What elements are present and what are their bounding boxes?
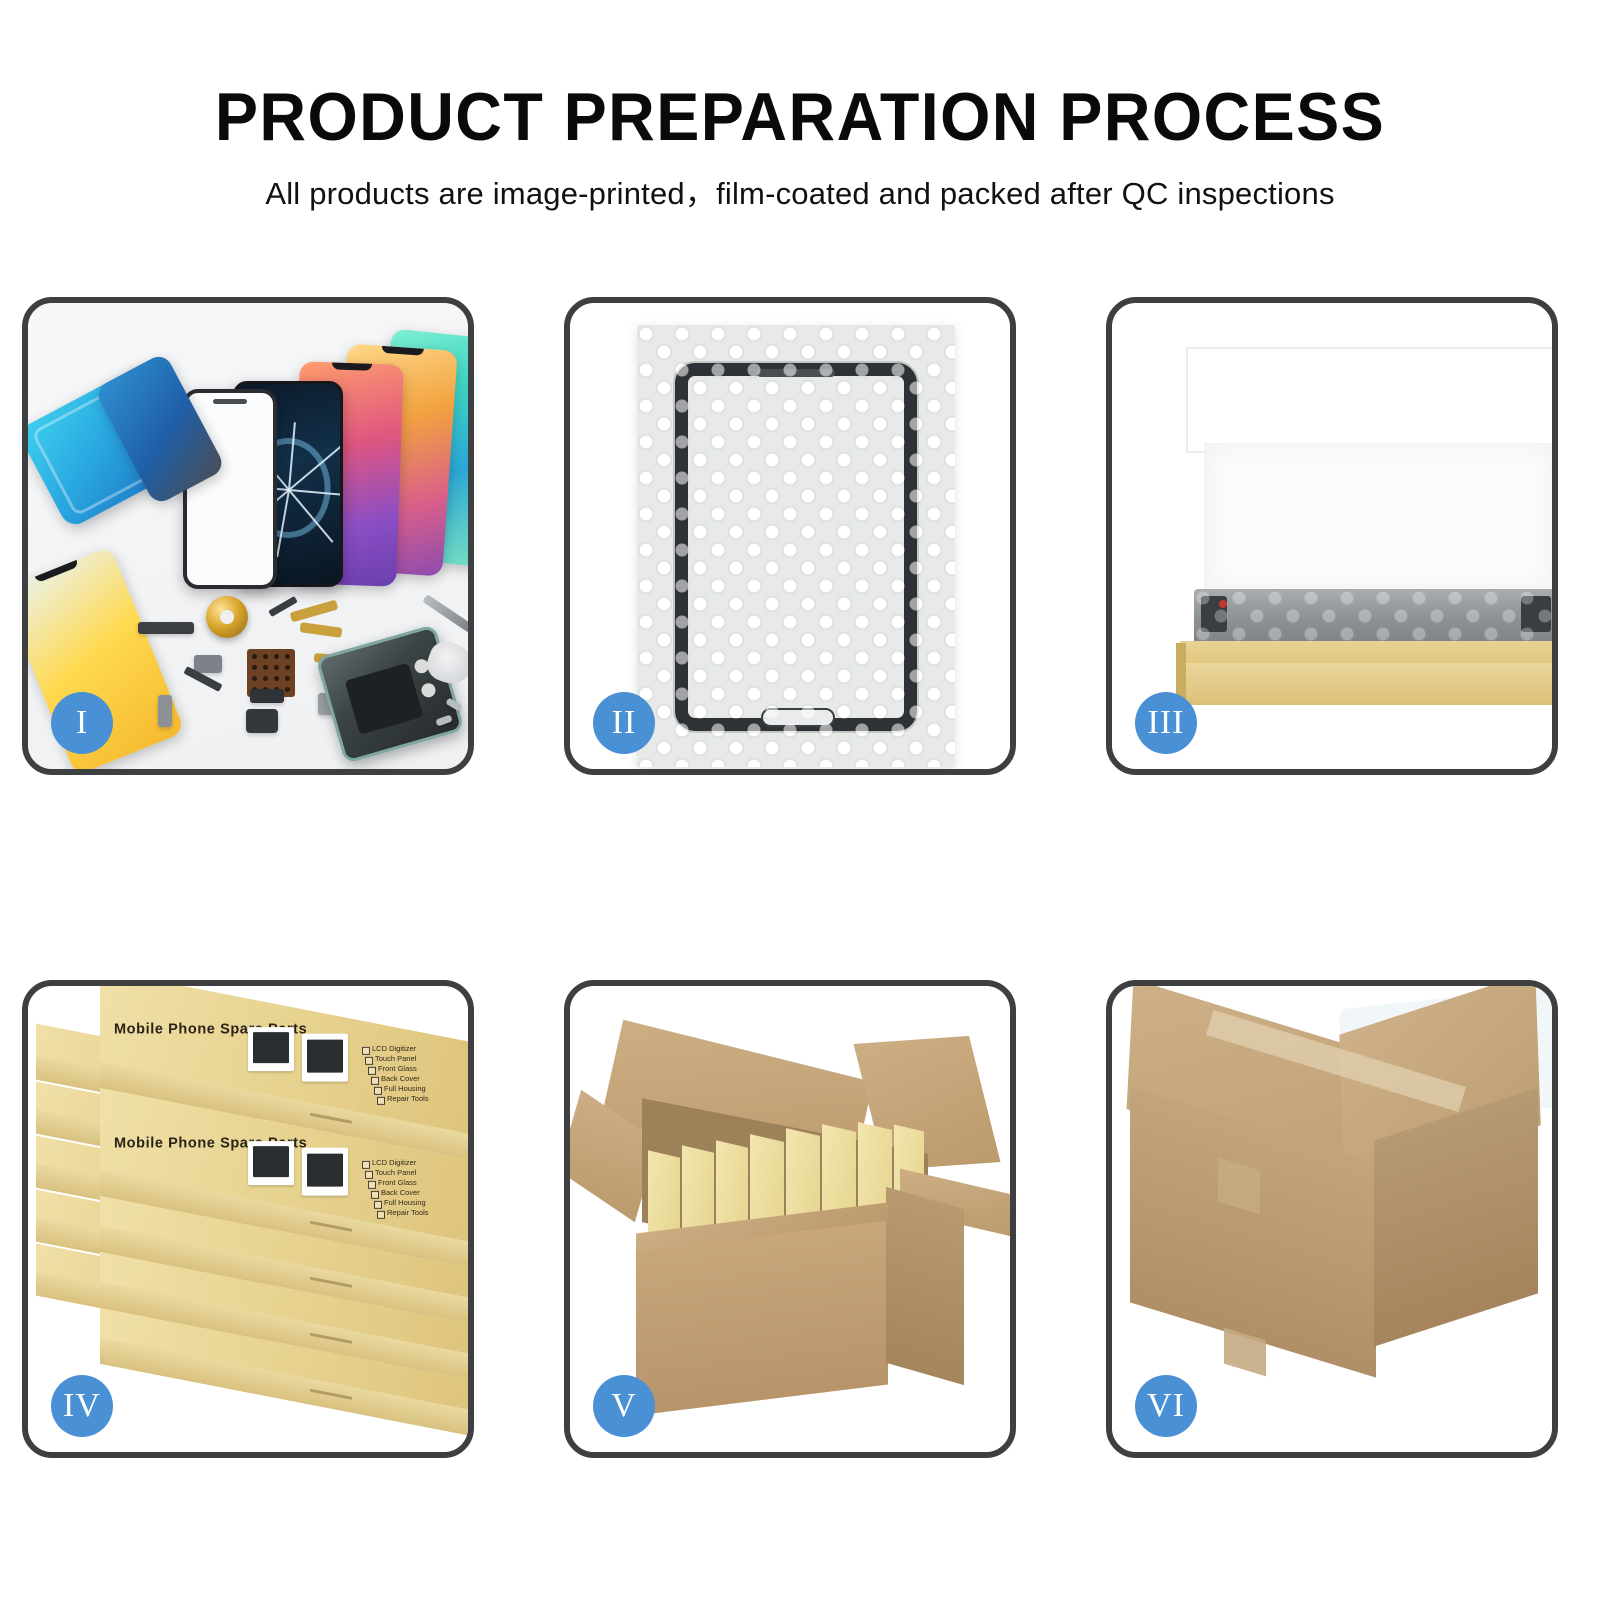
- box-edge-notch: [310, 1221, 352, 1232]
- gold-box-checklist-2: LCD Digitizer Touch Panel Front Glass Ba…: [362, 1159, 466, 1223]
- loudspeaker-part: [250, 689, 284, 703]
- step-card-3[interactable]: III: [1106, 297, 1558, 775]
- process-grid: I II: [0, 0, 1600, 1600]
- window-screen: [253, 1032, 289, 1063]
- gold-box-window-2: [302, 1148, 348, 1196]
- step-card-6[interactable]: VI: [1106, 980, 1558, 1458]
- earpiece-slot: [213, 399, 247, 404]
- gold-box-window-1: [248, 1027, 294, 1071]
- antenna-connector-part: [138, 622, 194, 634]
- checkbox: [368, 1181, 376, 1189]
- phone-notch: [382, 346, 424, 356]
- retail-box-in-carton: [822, 1124, 856, 1220]
- vibration-motor-part: [246, 709, 278, 733]
- checklist-item: Touch Panel: [375, 1168, 416, 1177]
- checklist-item: Repair Tools: [387, 1094, 429, 1103]
- mailer-lid-flap: [1186, 347, 1552, 453]
- box-edge-notch: [310, 1277, 352, 1288]
- earpiece-slot: [757, 369, 835, 377]
- checkbox: [362, 1047, 370, 1055]
- checkbox: [365, 1171, 373, 1179]
- checklist-item: Front Glass: [378, 1178, 417, 1187]
- wrapped-screen-panel: [675, 363, 917, 731]
- checkbox: [377, 1097, 385, 1105]
- gold-box-checklist-1: LCD Digitizer Touch Panel Front Glass Ba…: [362, 1045, 466, 1109]
- step-badge-1: I: [51, 692, 113, 754]
- checklist-item: Back Cover: [381, 1188, 420, 1197]
- checklist-item: Touch Panel: [375, 1054, 416, 1063]
- checklist-item: Front Glass: [378, 1064, 417, 1073]
- checkbox: [365, 1057, 373, 1065]
- box-edge-notch: [310, 1113, 352, 1124]
- checklist-item: Repair Tools: [387, 1208, 429, 1217]
- mailer-inner-foam: [1204, 443, 1552, 591]
- checklist-item: Full Housing: [384, 1198, 426, 1207]
- checkbox: [371, 1191, 379, 1199]
- bubble-wrap-sheet: [637, 325, 955, 767]
- window-screen: [253, 1146, 289, 1177]
- checklist-item: Full Housing: [384, 1084, 426, 1093]
- checkbox: [374, 1087, 382, 1095]
- battery-pack: [345, 663, 424, 735]
- step-card-5[interactable]: V: [564, 980, 1016, 1458]
- step-badge-5: V: [593, 1375, 655, 1437]
- mailer-box-left-edge: [1176, 643, 1186, 701]
- camera-lens: [419, 682, 436, 699]
- phone-notch: [332, 362, 372, 370]
- gold-box-stack-front: Mobile Phone Spare Parts LCD Digitizer T…: [100, 1006, 468, 1406]
- gold-box-window-2: [302, 1034, 348, 1082]
- step-badge-2: II: [593, 692, 655, 754]
- mailer-box-front-face: [1180, 663, 1552, 705]
- checklist-item: Back Cover: [381, 1074, 420, 1083]
- step-badge-3: III: [1135, 692, 1197, 754]
- home-button-cutout: [761, 708, 834, 727]
- retail-box-in-carton: [682, 1145, 714, 1236]
- step-card-4[interactable]: Mobile Phone Spare Parts LCD Digitizer T…: [22, 980, 474, 1458]
- checkbox: [371, 1077, 379, 1085]
- step-badge-6: VI: [1135, 1375, 1197, 1437]
- checkbox: [374, 1201, 382, 1209]
- retail-box-in-carton: [648, 1150, 680, 1239]
- window-screen: [307, 1153, 343, 1187]
- carton-side-face: [886, 1187, 964, 1385]
- window-screen: [307, 1039, 343, 1073]
- screen-bottom-bezel: [1521, 596, 1551, 632]
- camera-module-part: [194, 655, 222, 673]
- gold-box-window-1: [248, 1141, 294, 1185]
- bubble-sheen: [1194, 589, 1552, 645]
- box-edge-notch: [310, 1333, 352, 1344]
- retail-box-in-carton: [786, 1128, 820, 1224]
- checkbox: [368, 1067, 376, 1075]
- wrapped-screen-in-box: [1194, 589, 1552, 645]
- box-edge-notch: [310, 1389, 352, 1400]
- checkbox: [377, 1211, 385, 1219]
- step-badge-4: IV: [51, 1375, 113, 1437]
- taptic-coil-part: [206, 596, 248, 638]
- checklist-item: LCD Digitizer: [372, 1044, 416, 1053]
- step-card-1[interactable]: I: [22, 297, 474, 775]
- checkbox: [362, 1161, 370, 1169]
- sim-tray-part: [158, 695, 172, 727]
- checklist-item: LCD Digitizer: [372, 1158, 416, 1167]
- step-card-2[interactable]: II: [564, 297, 1016, 775]
